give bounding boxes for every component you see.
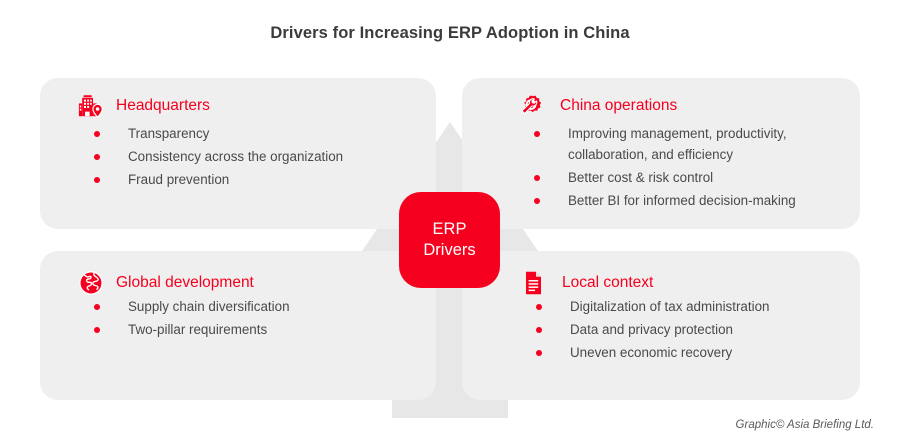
card-headquarters: Headquarters Transparency Consistency ac… — [40, 78, 436, 229]
list-item: Transparency — [94, 124, 420, 145]
globe-icon — [78, 270, 104, 296]
card-title: Local context — [562, 274, 653, 292]
list-item: Improving management, productivity, coll… — [534, 124, 846, 165]
card-local-context: Local context Digitalization of tax admi… — [462, 251, 860, 400]
list-item: Digitalization of tax administration — [536, 297, 844, 318]
graphic-credit: Graphic© Asia Briefing Ltd. — [736, 419, 874, 431]
list-item: Better cost & risk control — [534, 168, 846, 189]
card-header: Global development — [40, 251, 436, 293]
center-badge-line2: Drivers — [423, 240, 475, 261]
card-header: Local context — [462, 251, 860, 293]
page-title: Drivers for Increasing ERP Adoption in C… — [0, 24, 900, 43]
document-icon — [520, 270, 546, 296]
card-china-operations: China operations Improving management, p… — [462, 78, 860, 229]
center-badge-erp-drivers: ERP Drivers — [399, 192, 500, 288]
card-title: Headquarters — [116, 97, 210, 115]
gear-wrench-icon — [518, 93, 544, 119]
list-item: Supply chain diversification — [94, 297, 420, 318]
card-header: Headquarters — [40, 78, 436, 120]
building-pin-icon — [78, 93, 104, 119]
card-header: China operations — [462, 78, 860, 120]
list-item: Consistency across the organization — [94, 147, 420, 168]
bullet-list: Improving management, productivity, coll… — [462, 124, 860, 211]
list-item: Better BI for informed decision-making — [534, 191, 846, 212]
infographic-root: Drivers for Increasing ERP Adoption in C… — [0, 0, 900, 445]
card-global-development: Global development Supply chain diversif… — [40, 251, 436, 400]
list-item: Two-pillar requirements — [94, 320, 420, 341]
bullet-list: Transparency Consistency across the orga… — [40, 124, 436, 191]
bullet-list: Digitalization of tax administration Dat… — [462, 297, 860, 364]
list-item: Uneven economic recovery — [536, 343, 844, 364]
center-badge-line1: ERP — [433, 219, 467, 240]
card-title: China operations — [560, 97, 677, 115]
list-item: Fraud prevention — [94, 170, 420, 191]
bullet-list: Supply chain diversification Two-pillar … — [40, 297, 436, 341]
list-item: Data and privacy protection — [536, 320, 844, 341]
card-title: Global development — [116, 274, 254, 292]
